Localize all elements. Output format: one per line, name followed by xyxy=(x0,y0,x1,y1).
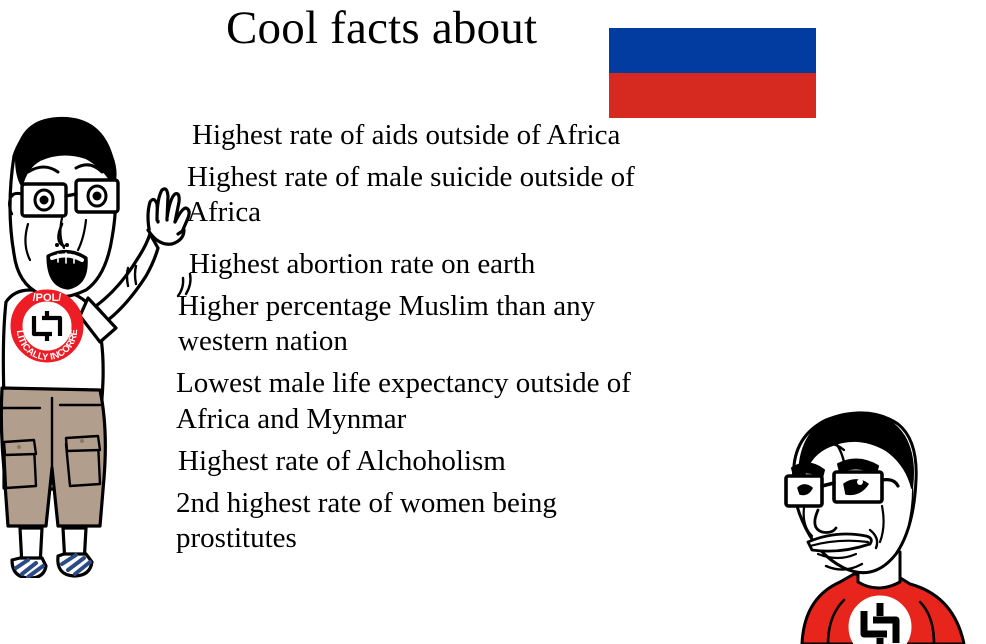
fact-item: Higher percentage Muslim than any wester… xyxy=(176,289,776,359)
sandal-right xyxy=(58,554,92,576)
fact-item: Highest abortion rate on earth xyxy=(176,247,776,282)
glasses xyxy=(12,180,118,216)
waving-hand xyxy=(148,189,189,244)
fact-item: Highest rate of Alchoholism xyxy=(176,444,776,479)
flag-top-band xyxy=(609,28,816,73)
fact-item: Highest rate of male suicide outside of … xyxy=(176,160,776,230)
svg-text:/POL/: /POL/ xyxy=(33,292,62,304)
smug-wojak-figure xyxy=(782,402,986,644)
fact-list: Highest rate of aids outside of Africa H… xyxy=(176,118,776,563)
haiti-flag xyxy=(609,28,816,118)
flag-bottom-band xyxy=(609,73,816,118)
fact-item: Highest rate of aids outside of Africa xyxy=(176,118,776,153)
fact-item: Lowest male life expectancy outside of A… xyxy=(176,366,776,436)
meme-canvas: Cool facts about Highest rate of aids ou… xyxy=(0,0,986,644)
sandal-left xyxy=(12,558,46,578)
page-title: Cool facts about xyxy=(226,2,537,55)
fact-item: 2nd highest rate of women being prostitu… xyxy=(176,486,776,556)
soyjak-pointing-figure: /POL/ POLITICALLY INCORRECT xyxy=(0,98,200,578)
glasses xyxy=(786,472,898,506)
